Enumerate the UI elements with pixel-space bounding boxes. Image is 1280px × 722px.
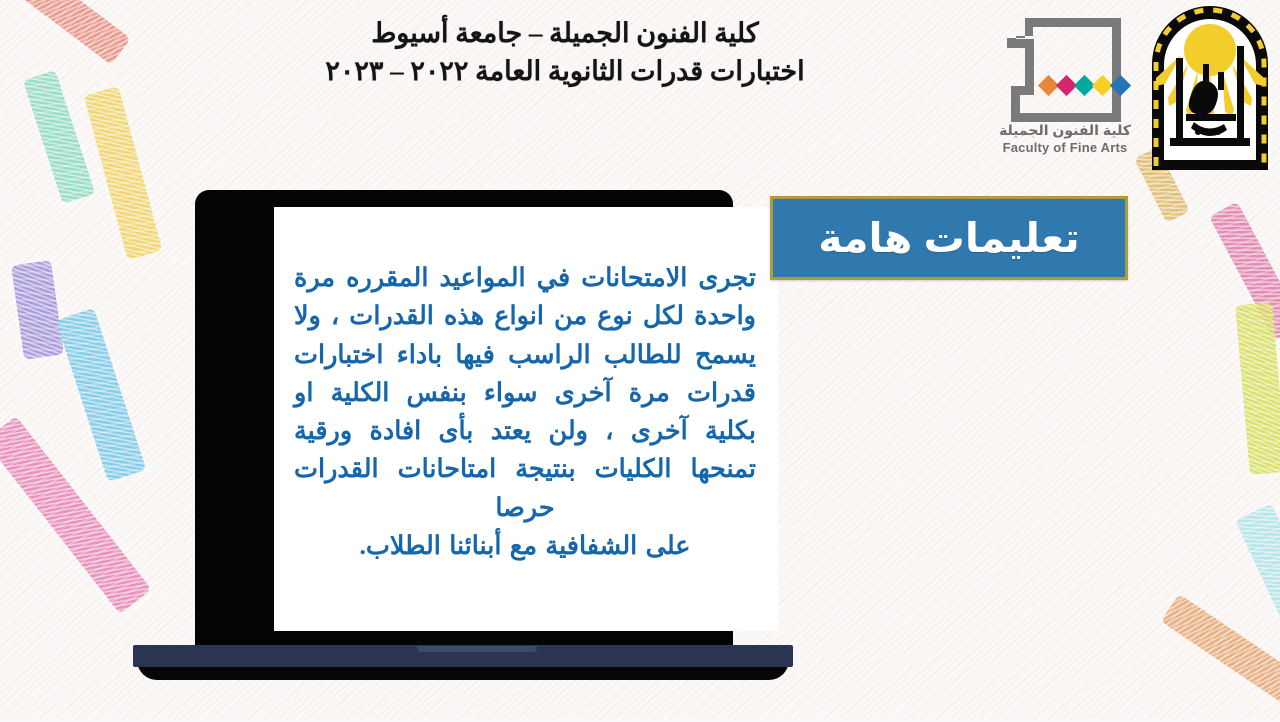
instructions-paragraph-2: على الشفافية مع أبنائنا الطلاب. bbox=[294, 527, 756, 565]
fine-arts-bracket-shape bbox=[1007, 18, 1121, 122]
crayon-stroke-purple-left bbox=[11, 260, 64, 360]
laptop-illustration: تجرى الامتحانات في المواعيد المقرره مرة … bbox=[133, 190, 793, 682]
assiut-sun bbox=[1184, 24, 1236, 76]
important-instructions-banner: تعليمات هامة bbox=[770, 196, 1128, 280]
faculty-of-fine-arts-logo: كلية الفنون الجميلة Faculty of Fine Arts bbox=[995, 14, 1135, 164]
laptop-trackpad-notch bbox=[417, 646, 537, 652]
assiut-university-logo bbox=[1146, 2, 1274, 172]
laptop-screen: تجرى الامتحانات في المواعيد المقرره مرة … bbox=[274, 207, 778, 631]
crayon-stroke-mint-left bbox=[23, 70, 96, 204]
header-line-faculty: كلية الفنون الجميلة – جامعة أسيوط bbox=[215, 14, 915, 52]
crayon-stroke-orange-right bbox=[1161, 594, 1280, 719]
laptop-lid: تجرى الامتحانات في المواعيد المقرره مرة … bbox=[195, 190, 733, 648]
instructions-paragraph-1: تجرى الامتحانات في المواعيد المقرره مرة … bbox=[294, 259, 756, 527]
instructions-text-block: تجرى الامتحانات في المواعيد المقرره مرة … bbox=[274, 207, 778, 631]
header-line-exams: اختبارات قدرات الثانوية العامة ٢٠٢٢ – ٢٠… bbox=[215, 52, 915, 90]
crayon-stroke-coral-topleft bbox=[0, 0, 131, 65]
fine-arts-caption-arabic: كلية الفنون الجميلة bbox=[995, 122, 1135, 140]
important-instructions-label: تعليمات هامة bbox=[818, 218, 1080, 259]
slide-header: كلية الفنون الجميلة – جامعة أسيوط اختبار… bbox=[215, 14, 915, 91]
fine-arts-caption-english: Faculty of Fine Arts bbox=[995, 140, 1135, 155]
crayon-stroke-lime-right bbox=[1235, 302, 1280, 475]
